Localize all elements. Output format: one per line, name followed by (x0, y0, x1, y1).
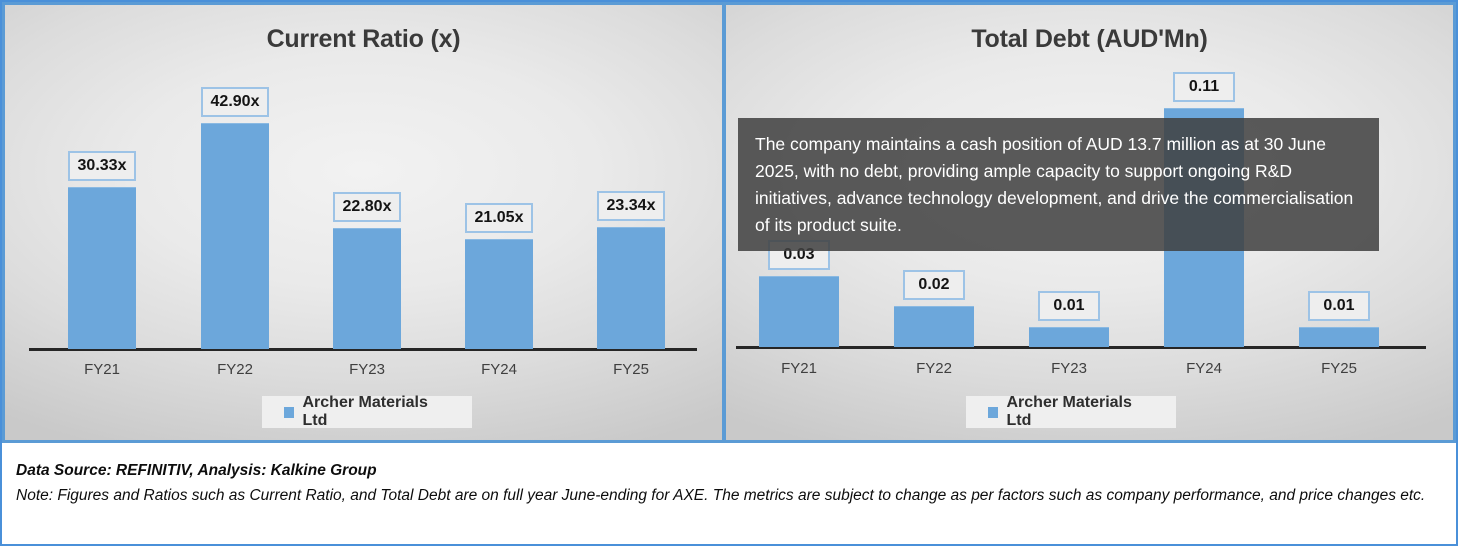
data-label-fy22: 0.02 (903, 270, 965, 300)
x-tick-fy24: FY24 (465, 361, 533, 378)
data-label-fy25: 0.01 (1308, 291, 1370, 321)
charts-band: Current Ratio (x) 30.33xFY2142.90xFY2222… (2, 2, 1456, 443)
infographic-frame: Current Ratio (x) 30.33xFY2142.90xFY2222… (0, 0, 1458, 546)
legend-current-ratio[interactable]: Archer Materials Ltd (262, 396, 472, 428)
legend-swatch-icon (284, 407, 294, 418)
data-label-fy22: 42.90x (201, 87, 269, 117)
data-label-fy23: 0.01 (1038, 291, 1100, 321)
data-label-fy23: 22.80x (333, 192, 401, 222)
bar-fy22[interactable] (201, 123, 269, 349)
legend-swatch-icon (988, 407, 998, 418)
bar-fy22[interactable] (894, 306, 974, 347)
legend-label: Archer Materials Ltd (1006, 394, 1154, 430)
x-tick-fy23: FY23 (1029, 360, 1109, 377)
data-label-fy24: 0.11 (1173, 72, 1235, 102)
callout-textbox: The company maintains a cash position of… (738, 118, 1379, 251)
bar-fy25[interactable] (597, 227, 665, 349)
bar-fy23[interactable] (333, 228, 401, 349)
footer-note: Note: Figures and Ratios such as Current… (16, 483, 1442, 508)
data-label-fy21: 30.33x (68, 151, 136, 181)
plot-area-current-ratio: 30.33xFY2142.90xFY2222.80xFY2321.05xFY24… (5, 5, 722, 440)
chart-panel-current-ratio: Current Ratio (x) 30.33xFY2142.90xFY2222… (2, 2, 724, 443)
x-tick-fy25: FY25 (1299, 360, 1379, 377)
footer-source: Data Source: REFINITIV, Analysis: Kalkin… (16, 458, 1442, 483)
bar-fy21[interactable] (759, 276, 839, 347)
data-label-fy25: 23.34x (597, 191, 665, 221)
x-tick-fy22: FY22 (894, 360, 974, 377)
x-tick-fy22: FY22 (201, 361, 269, 378)
footer-notes: Data Source: REFINITIV, Analysis: Kalkin… (2, 446, 1456, 544)
chart-panel-total-debt: Total Debt (AUD'Mn) 0.03FY210.02FY220.01… (724, 2, 1456, 443)
bar-fy23[interactable] (1029, 327, 1109, 347)
x-tick-fy21: FY21 (68, 361, 136, 378)
x-tick-fy25: FY25 (597, 361, 665, 378)
x-tick-fy24: FY24 (1164, 360, 1244, 377)
data-label-fy24: 21.05x (465, 203, 533, 233)
bar-fy24[interactable] (465, 239, 533, 349)
legend-total-debt[interactable]: Archer Materials Ltd (966, 396, 1176, 428)
x-tick-fy23: FY23 (333, 361, 401, 378)
legend-label: Archer Materials Ltd (302, 394, 450, 430)
callout-text: The company maintains a cash position of… (755, 134, 1353, 235)
bar-fy25[interactable] (1299, 327, 1379, 347)
x-tick-fy21: FY21 (759, 360, 839, 377)
bar-fy21[interactable] (68, 187, 136, 349)
